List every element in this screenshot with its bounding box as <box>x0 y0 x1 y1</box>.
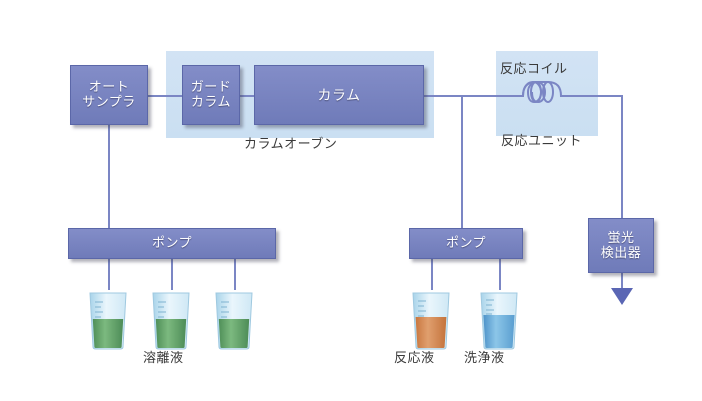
line-detector-to-arrow <box>621 272 623 289</box>
line-autosampler-to-guard <box>147 95 183 97</box>
line-pump-right-to-wash-beaker <box>499 258 501 290</box>
autosampler-box[interactable]: オート サンプラ <box>70 65 148 125</box>
wash-label: 洗浄液 <box>464 347 505 366</box>
eluent-beaker-2 <box>149 289 193 351</box>
guard-column-label-line1: ガード <box>191 80 232 95</box>
line-guard-to-column <box>240 95 254 97</box>
pump-right-label: ポンプ <box>446 236 486 251</box>
reaction-unit-label: 反応ユニット <box>501 130 582 149</box>
eluent-beaker-1 <box>86 289 130 351</box>
line-riser-to-detector <box>621 95 623 218</box>
flow-diagram-canvas: オート サンプラ ガード カラム カラム ポンプ ポンプ 蛍光 検出器 カラムオ… <box>0 0 702 401</box>
eluent-label: 溶離液 <box>143 347 184 366</box>
pump-left-box[interactable]: ポンプ <box>68 228 276 259</box>
output-arrow-icon <box>611 288 633 305</box>
line-column-to-coil <box>424 95 512 97</box>
line-pump-left-to-beaker-3 <box>234 258 236 290</box>
guard-column-label-line2: カラム <box>191 95 232 110</box>
line-pump-right-to-reagent-beaker <box>431 258 433 290</box>
detector-label-line2: 検出器 <box>601 246 642 261</box>
wash-beaker <box>477 289 521 351</box>
column-label: カラム <box>317 87 360 103</box>
column-box[interactable]: カラム <box>254 65 424 125</box>
pump-right-box[interactable]: ポンプ <box>409 228 523 259</box>
line-main-to-pump-right <box>461 95 463 229</box>
eluent-beaker-3 <box>212 289 256 351</box>
detector-label-line1: 蛍光 <box>601 231 642 246</box>
fluorescence-detector-box[interactable]: 蛍光 検出器 <box>588 218 654 273</box>
column-oven-label: カラムオーブン <box>244 133 337 152</box>
line-pump-left-to-beaker-1 <box>108 258 110 290</box>
reagent-beaker <box>409 289 453 351</box>
guard-column-box[interactable]: ガード カラム <box>182 65 240 125</box>
reaction-coil-label: 反応コイル <box>500 58 568 77</box>
reagent-label: 反応液 <box>394 347 435 366</box>
reaction-coil-icon <box>505 79 585 105</box>
line-autosampler-to-pump-left <box>108 124 110 229</box>
line-pump-left-to-beaker-2 <box>171 258 173 290</box>
autosampler-label-line1: オート <box>82 80 136 95</box>
pump-left-label: ポンプ <box>152 236 192 251</box>
autosampler-label-line2: サンプラ <box>82 95 136 110</box>
